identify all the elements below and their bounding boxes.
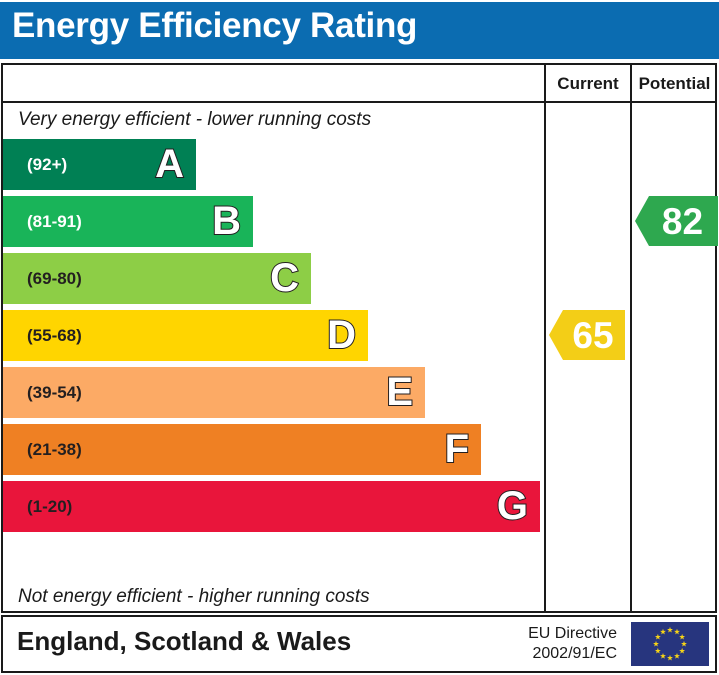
band-letter: C [270, 253, 299, 304]
energy-efficiency-rating-chart: Energy Efficiency Rating Current Potenti… [0, 0, 719, 675]
band-b: (81-91)B [3, 196, 253, 247]
rating-table: Current Potential Very energy efficient … [1, 63, 717, 613]
band-e: (39-54)E [3, 367, 425, 418]
band-c: (69-80)C [3, 253, 311, 304]
band-range-label: (55-68) [27, 310, 82, 361]
footer-directive: EU Directive 2002/91/EC [528, 624, 617, 664]
title-bar: Energy Efficiency Rating [0, 2, 719, 59]
band-letter: E [386, 367, 413, 418]
band-letter: G [497, 481, 528, 532]
potential-rating-value: 82 [650, 203, 703, 240]
band-letter: F [445, 424, 469, 475]
potential-rating-marker: 82 [635, 196, 718, 246]
current-column-header: Current [546, 72, 630, 96]
band-a: (92+)A [3, 139, 196, 190]
current-column-divider [544, 65, 546, 611]
footer-directive-line2: 2002/91/EC [528, 644, 617, 664]
potential-column-header: Potential [632, 72, 717, 96]
band-g: (1-20)G [3, 481, 540, 532]
band-range-label: (1-20) [27, 481, 72, 532]
eu-flag-icon [631, 622, 709, 666]
band-f: (21-38)F [3, 424, 481, 475]
band-d: (55-68)D [3, 310, 368, 361]
caption-efficient: Very energy efficient - lower running co… [18, 109, 371, 131]
band-range-label: (81-91) [27, 196, 82, 247]
band-list: (92+)A(81-91)B(69-80)C(55-68)D(39-54)E(2… [3, 139, 544, 581]
band-letter: A [155, 139, 184, 190]
band-range-label: (39-54) [27, 367, 82, 418]
header-divider [3, 101, 715, 103]
band-range-label: (21-38) [27, 424, 82, 475]
current-rating-value: 65 [560, 317, 613, 354]
band-range-label: (69-80) [27, 253, 82, 304]
band-range-label: (92+) [27, 139, 67, 190]
caption-inefficient: Not energy efficient - higher running co… [18, 586, 370, 608]
potential-column-divider [630, 65, 632, 611]
band-letter: B [212, 196, 241, 247]
current-rating-marker: 65 [549, 310, 625, 360]
footer-region-label: England, Scotland & Wales [17, 626, 351, 657]
footer-directive-line1: EU Directive [528, 624, 617, 644]
band-letter: D [327, 310, 356, 361]
footer-bar: England, Scotland & Wales EU Directive 2… [1, 615, 717, 673]
page-title: Energy Efficiency Rating [12, 6, 417, 46]
